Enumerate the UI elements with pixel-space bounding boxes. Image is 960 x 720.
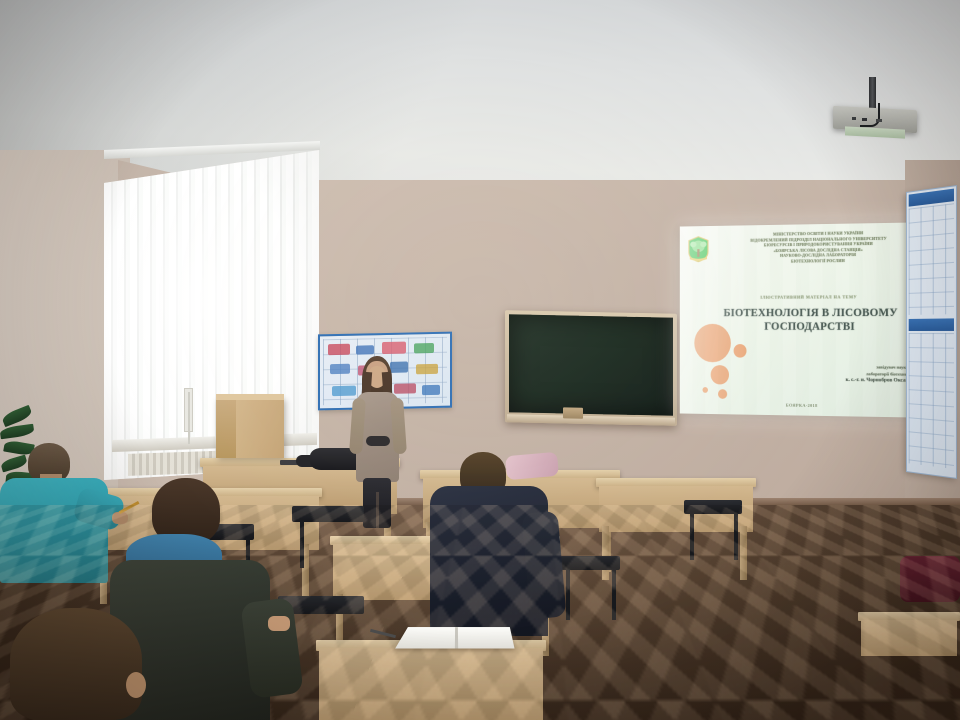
slide-decor-circle [702, 387, 707, 393]
slide-decor-circle [718, 389, 727, 399]
blind-cord[interactable] [188, 392, 190, 444]
info-poster-right-wall [906, 185, 957, 479]
poster-swatch [382, 342, 406, 355]
cardboard-box-side [216, 398, 236, 458]
presenter-hands [366, 436, 390, 446]
poster-swatch [390, 362, 408, 373]
desk-leg [740, 526, 747, 580]
poster-grid [909, 333, 954, 469]
poster-swatch [332, 386, 356, 397]
chair-leg [612, 568, 616, 620]
projector-cable [860, 103, 880, 127]
slide-decor-circle [734, 344, 747, 358]
chair-leg [734, 512, 738, 560]
slide-decor-circle [711, 365, 729, 384]
poster-swatch [330, 364, 350, 374]
slide-footer: БОЯРКА-2018 [680, 401, 929, 410]
projection-screen: МІНІСТЕРСТВО ОСВІТИ І НАУКИ УКРАЇНИ ВІДО… [680, 222, 943, 418]
student-ear [126, 672, 146, 698]
slide-subtitle: ІЛЮСТРАТИВНИЙ МАТЕРІАЛ НА ТЕМУ [680, 294, 943, 300]
chair-leg [690, 512, 694, 560]
chair-leg [566, 568, 570, 620]
chair-back-red[interactable] [900, 556, 960, 602]
plant-leaf [0, 455, 28, 473]
poster-swatch [414, 343, 434, 353]
desk-front-panel [319, 648, 543, 720]
desk-front-panel [861, 620, 957, 656]
pink-bag[interactable] [505, 452, 559, 480]
chalk-eraser[interactable] [563, 407, 583, 418]
window-daylight-glow [104, 150, 319, 480]
chair-leg [300, 520, 304, 568]
poster-swatch [416, 364, 438, 374]
classroom-photo: МІНІСТЕРСТВО ОСВІТИ І НАУКИ УКРАЇНИ ВІДО… [0, 0, 960, 720]
poster-grid [909, 203, 954, 315]
slide-organization-block: МІНІСТЕРСТВО ОСВІТИ І НАУКИ УКРАЇНИ ВІДО… [703, 229, 937, 265]
desk-right-front [858, 612, 960, 652]
chalkboard-surface[interactable] [509, 314, 673, 415]
student-head [10, 608, 142, 720]
poster-swatch [394, 383, 416, 393]
desk-front-center [316, 640, 546, 720]
presenter-leg-gap [376, 492, 379, 528]
notebook-spine [455, 627, 458, 648]
poster-swatch [422, 385, 440, 395]
projector-detail [876, 119, 882, 122]
chalkboard[interactable] [505, 310, 677, 426]
poster-swatch [328, 344, 350, 355]
desk-leg [602, 526, 609, 580]
poster-header-band [909, 318, 954, 331]
slide-decor-circle [694, 324, 731, 363]
projector-detail [852, 117, 856, 120]
student-hand [268, 616, 290, 631]
cardboard-box-top [216, 394, 284, 400]
projector-detail [862, 118, 867, 121]
window-with-blinds [104, 150, 319, 480]
poster-swatch [356, 345, 374, 354]
